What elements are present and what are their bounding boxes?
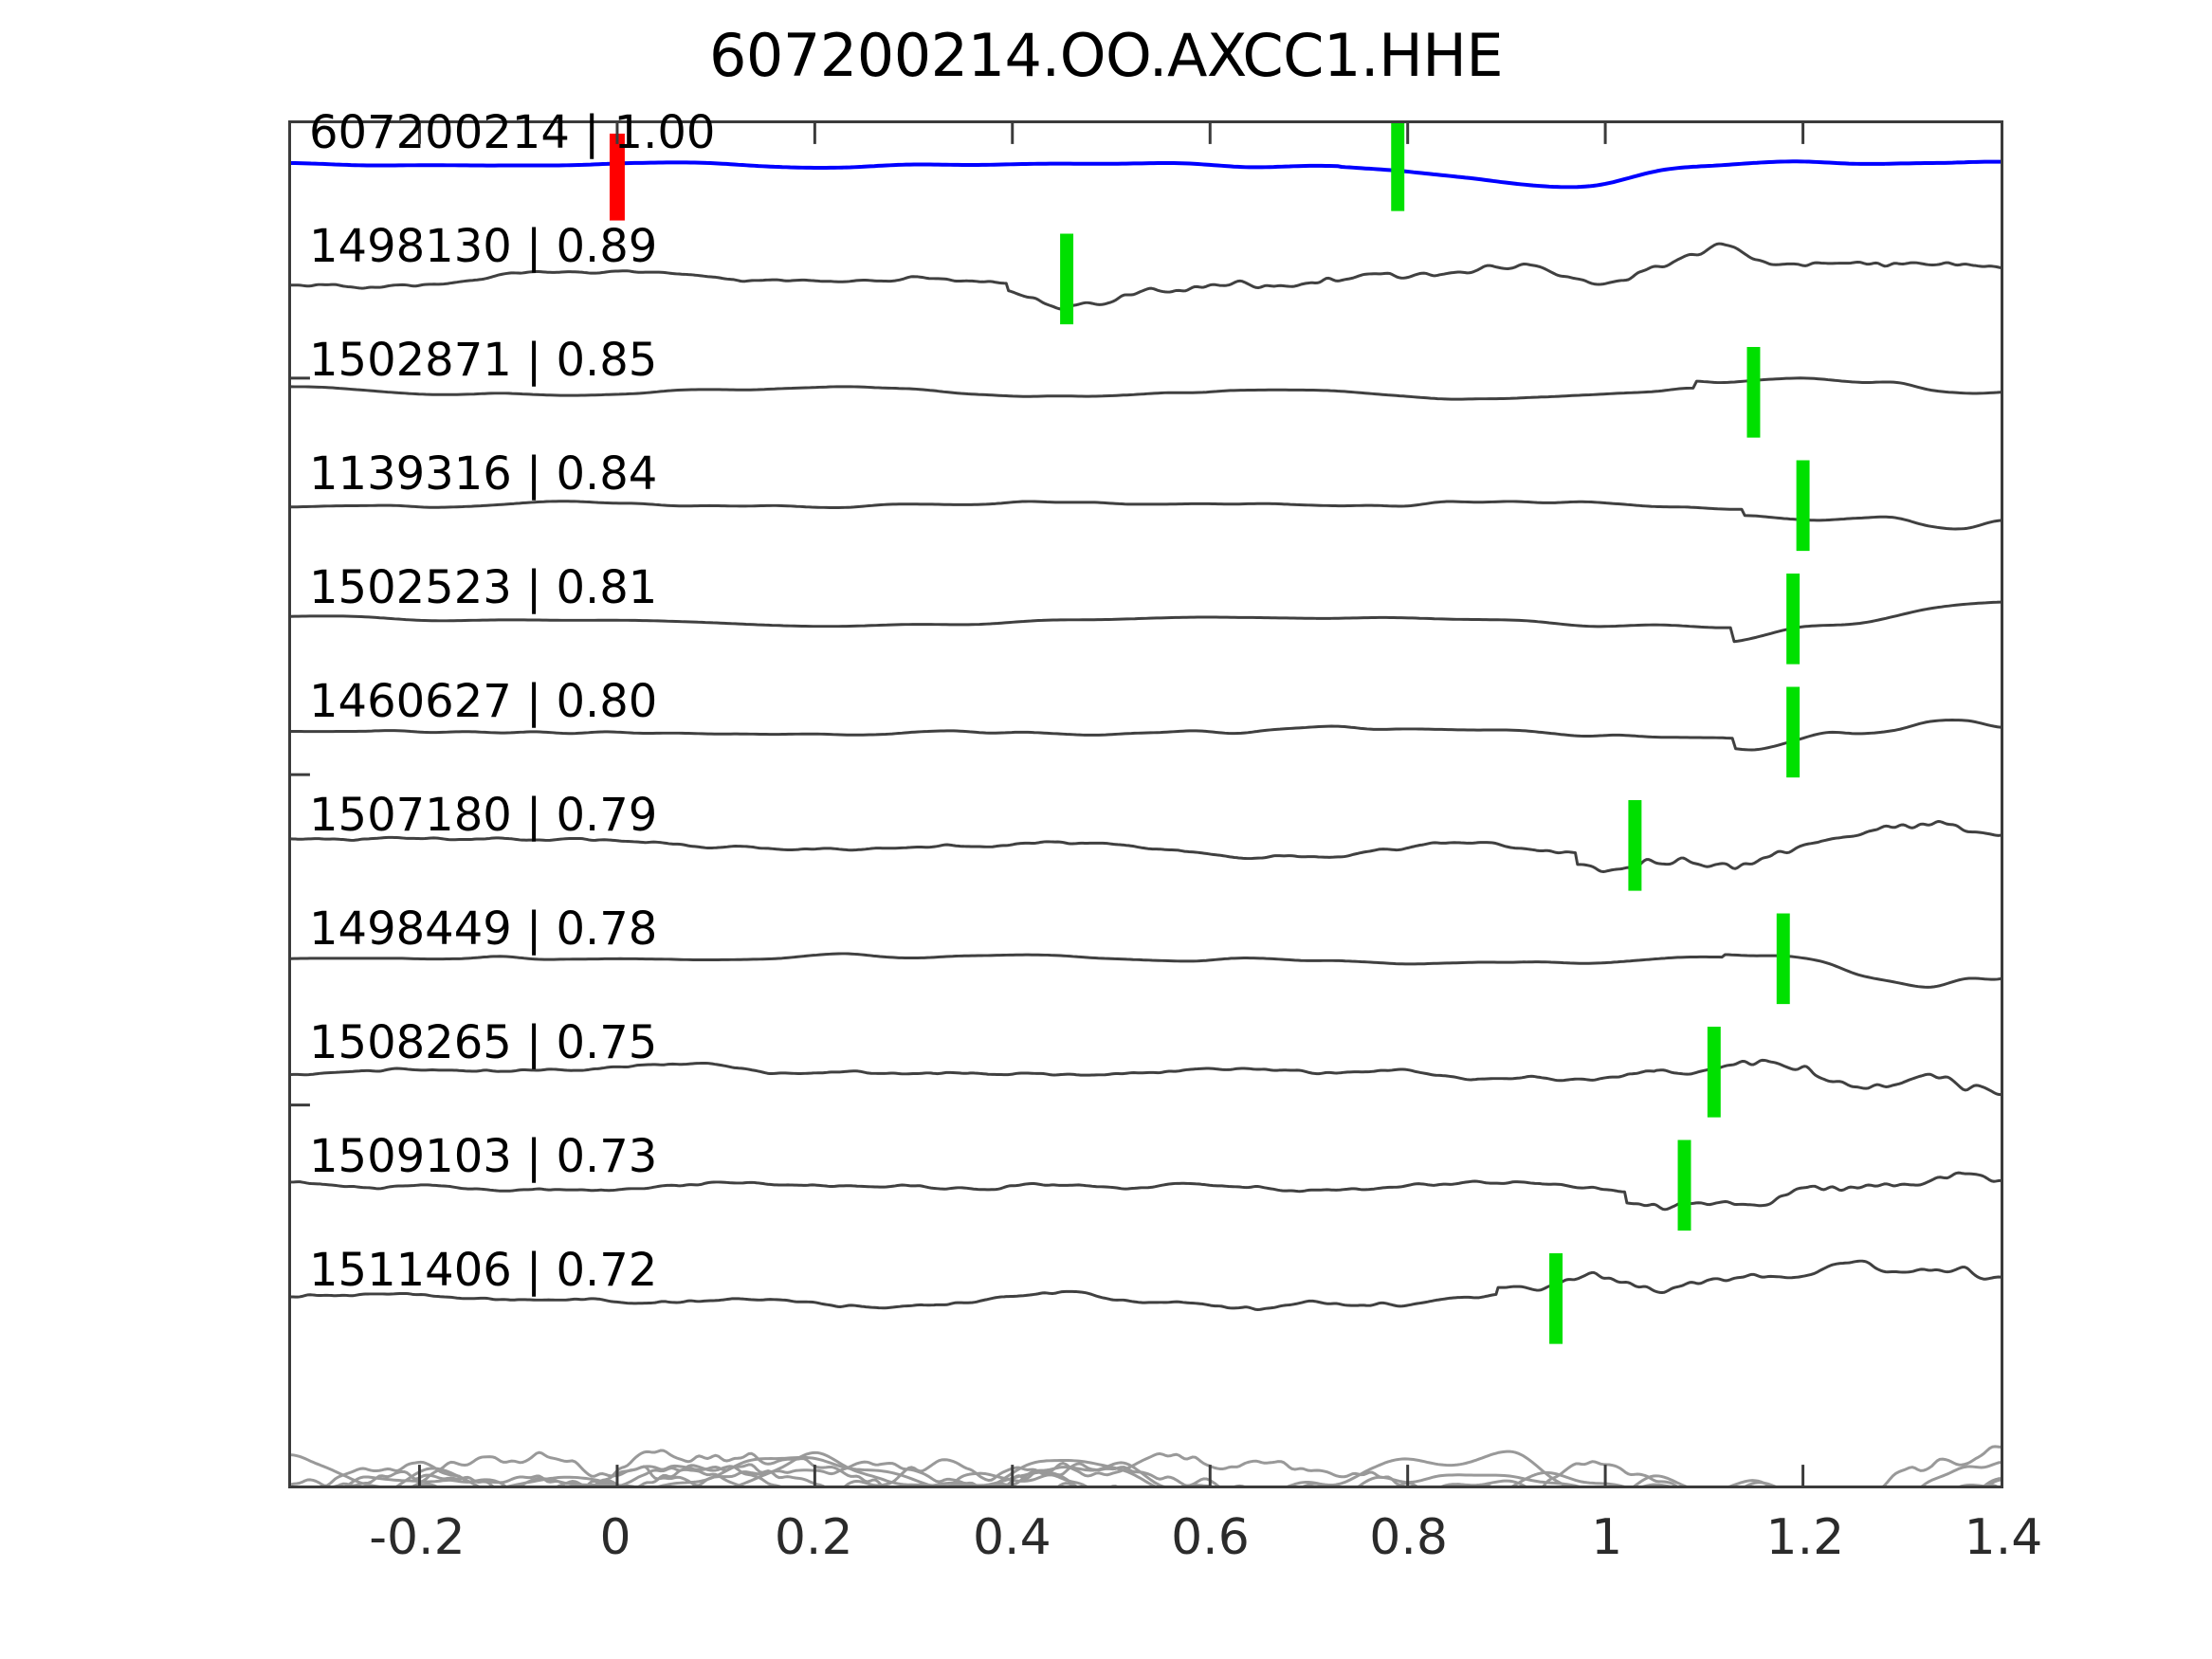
x-axis-tick-label: 0.2	[775, 1509, 853, 1566]
waveform-trace	[291, 720, 2001, 750]
waveform-trace	[291, 244, 2001, 309]
x-axis-tick-label: 0	[600, 1509, 631, 1566]
detection-pick-marker	[1786, 574, 1800, 665]
waveform-trace	[291, 378, 2001, 399]
x-axis-tick-label: 1.4	[1965, 1509, 2043, 1566]
waveform-trace	[291, 501, 2001, 529]
x-axis-tick-label: 0.6	[1171, 1509, 1250, 1566]
page-title: 607200214.OO.AXCC1.HHE	[0, 21, 2212, 90]
detection-pick-marker	[1786, 687, 1800, 778]
plot-area	[288, 120, 2003, 1488]
detection-pick-marker	[1678, 1140, 1691, 1231]
x-axis-tick-label: 0.8	[1369, 1509, 1448, 1566]
x-axis-tick-labels: -0.200.20.40.60.811.21.4	[0, 1509, 2212, 1585]
waveform-trace	[291, 822, 2001, 872]
detection-pick-marker	[1746, 347, 1760, 438]
waveform-trace	[291, 954, 2001, 987]
detection-pick-marker	[1797, 461, 1810, 552]
detection-pick-marker	[1060, 234, 1073, 325]
detection-pick-marker	[1549, 1253, 1563, 1344]
x-axis-tick-label: -0.2	[369, 1509, 465, 1566]
waveform-figure: 607200214.OO.AXCC1.HHE 607200214 | 1.001…	[0, 0, 2212, 1659]
waveform-trace	[291, 1060, 2001, 1094]
detection-pick-marker	[1391, 123, 1404, 211]
detection-pick-marker	[1777, 914, 1790, 1005]
x-axis-tick-label: 0.4	[973, 1509, 1051, 1566]
template-pick-marker	[610, 134, 625, 221]
waveform-trace	[291, 1173, 2001, 1210]
waveform-trace	[291, 1261, 2001, 1309]
waveform-trace	[291, 602, 2001, 642]
waveform-canvas	[291, 123, 2001, 1486]
detection-pick-marker	[1628, 800, 1641, 891]
waveform-trace	[291, 161, 2001, 187]
x-axis-tick-label: 1	[1591, 1509, 1622, 1566]
x-axis-tick-label: 1.2	[1766, 1509, 1845, 1566]
detection-pick-marker	[1708, 1027, 1721, 1118]
